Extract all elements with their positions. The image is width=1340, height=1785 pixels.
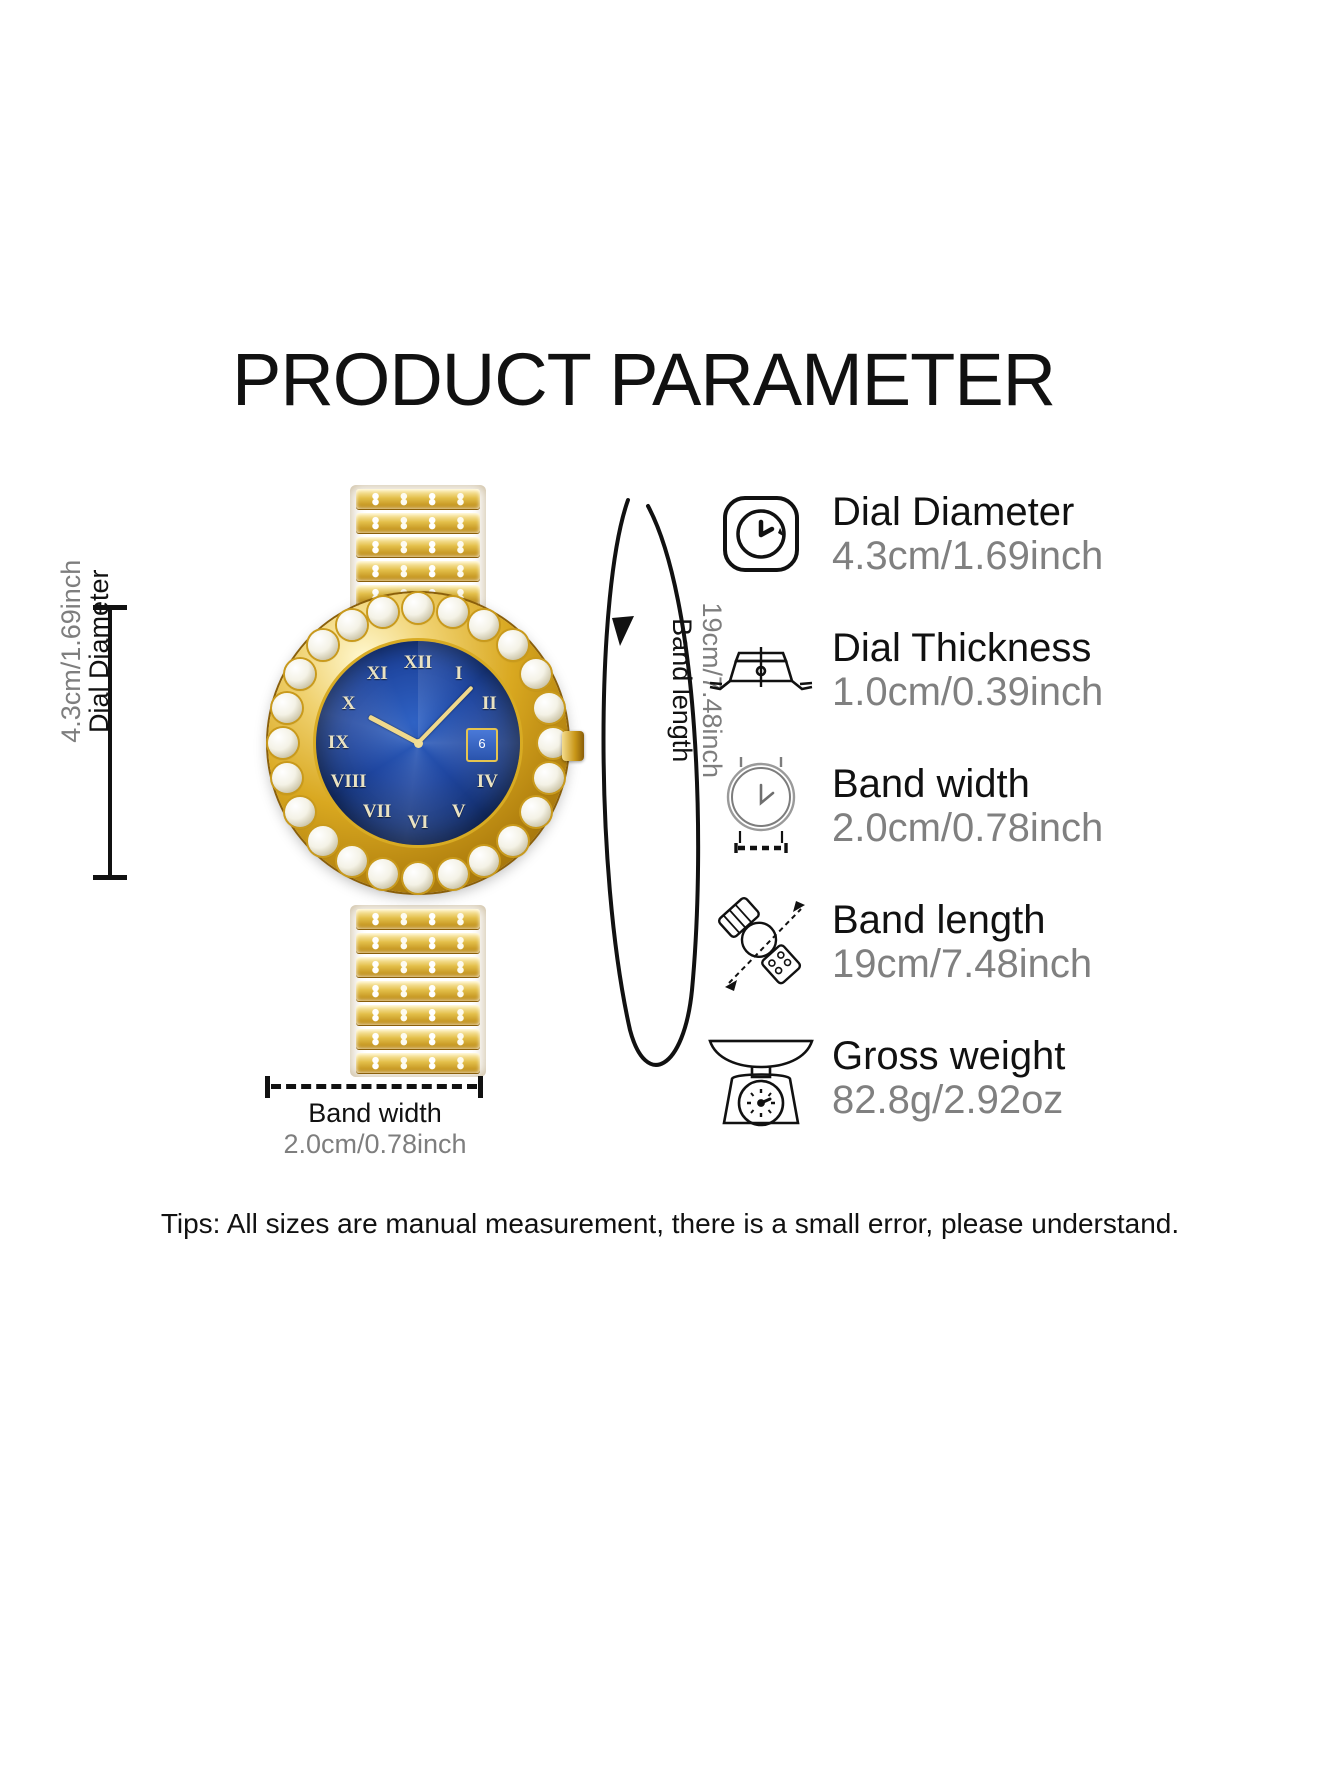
date-window: 6 [466,728,498,762]
dial-numeral: IV [477,771,498,793]
spec-value: 82.8g/2.92oz [832,1079,1296,1121]
spec-value: 2.0cm/0.78inch [832,807,1296,849]
spec-list: Dial Diameter 4.3cm/1.69inch [696,466,1296,1146]
watch-product-image: XII I II IV V VI VII VIII IX X XI 6 [258,475,578,1075]
spec-value: 4.3cm/1.69inch [832,535,1296,577]
spec-row-dial-thickness: Dial Thickness 1.0cm/0.39inch [696,602,1296,738]
dial-diameter-callout-value: 4.3cm/1.69inch [56,526,86,776]
dial-numeral: X [342,693,356,715]
spec-row-band-width: Band width 2.0cm/0.78inch [696,738,1296,874]
spec-label: Gross weight [832,1035,1296,1077]
hands-pivot [414,739,423,748]
dial-diameter-callout-left: 4.3cm/1.69inch Dial Diameter [56,526,114,776]
band-width-callout-value: 2.0cm/0.78inch [215,1129,535,1160]
watch-case: XII I II IV V VI VII VIII IX X XI 6 [268,593,568,893]
dial-numeral: VII [363,801,392,823]
spec-value: 19cm/7.48inch [832,943,1296,985]
band-length-callout-label: Band length [667,520,697,860]
spec-row-band-length: Band length 19cm/7.48inch [696,874,1296,1010]
spec-value: 1.0cm/0.39inch [832,671,1296,713]
watch-dial-diameter-icon [696,490,826,578]
spec-text-band-length: Band length 19cm/7.48inch [826,899,1296,985]
dimension-cap-right [478,1076,483,1098]
band-width-callout: Band width 2.0cm/0.78inch [215,1098,535,1160]
dimension-cap-left [265,1076,270,1098]
dial-numeral: I [455,663,462,685]
spec-text-gross-weight: Gross weight 82.8g/2.92oz [826,1035,1296,1121]
product-parameter-page: PRODUCT PARAMETER 4.3cm/1.69inch Dial Di… [0,0,1340,1785]
watch-dial: XII I II IV V VI VII VIII IX X XI 6 [316,641,520,845]
spec-label: Band length [832,899,1296,941]
spec-text-dial-diameter: Dial Diameter 4.3cm/1.69inch [826,491,1296,577]
kitchen-scale-icon [696,1023,826,1133]
dial-numeral: VIII [331,771,367,793]
watch-crown [562,731,584,761]
spec-row-dial-diameter: Dial Diameter 4.3cm/1.69inch [696,466,1296,602]
dial-diameter-callout-label: Dial Diameter [84,526,114,776]
watch-band-width-icon [696,751,826,861]
dial-numeral: VI [407,812,428,834]
watch-side-profile-thickness-icon [696,637,826,703]
page-title: PRODUCT PARAMETER [232,337,1055,422]
band-width-callout-label: Band width [215,1098,535,1129]
dial-numeral: II [482,693,497,715]
spec-text-dial-thickness: Dial Thickness 1.0cm/0.39inch [826,627,1296,713]
spec-label: Band width [832,763,1296,805]
band-width-dimension-line [265,1076,483,1096]
watch-band-lower [350,905,486,1077]
dial-numeral: V [452,801,466,823]
dial-numeral: IX [328,732,349,754]
dimension-dashes [271,1084,477,1089]
spec-row-gross-weight: Gross weight 82.8g/2.92oz [696,1010,1296,1146]
dial-numeral: XI [367,663,388,685]
dial-numeral: XII [404,652,433,674]
spec-text-band-width: Band width 2.0cm/0.78inch [826,763,1296,849]
tips-note: Tips: All sizes are manual measurement, … [0,1208,1340,1240]
watch-band-length-icon [696,887,826,997]
spec-label: Dial Diameter [832,491,1296,533]
spec-label: Dial Thickness [832,627,1296,669]
dimension-cap-bottom [93,875,127,880]
